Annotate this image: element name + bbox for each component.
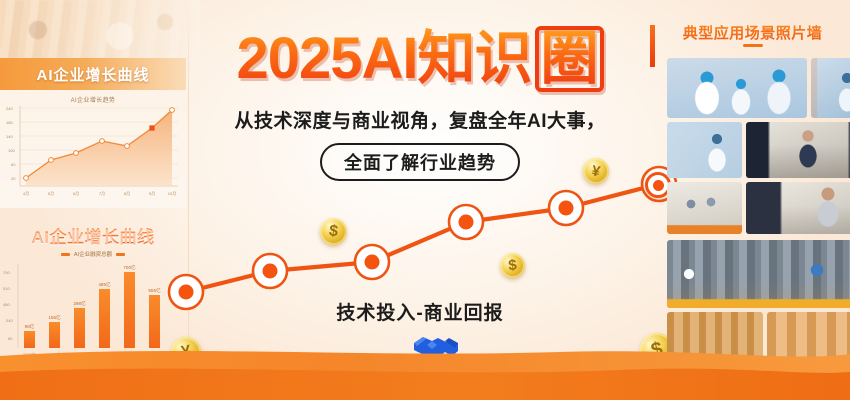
photo-technician-monitor: [667, 122, 742, 178]
svg-text:20: 20: [11, 176, 16, 181]
trend-markers: [169, 167, 676, 309]
chart-caption: 技术投入-商业回报: [300, 298, 540, 325]
card-growth-curve-chart-title: AI企业增长趋势: [0, 95, 186, 104]
photo-engineer-equipment: [811, 58, 850, 118]
photo-wall: 典型应用场景照片墙: [655, 0, 850, 400]
legend-swatch-icon: [61, 253, 70, 256]
legend-swatch-icon: [116, 253, 125, 256]
background-photo-texture: [0, 0, 200, 62]
legend-label: AI企业融资总额: [74, 250, 112, 258]
svg-text:240: 240: [6, 318, 13, 323]
subtitle: 从技术深度与商业视角，复盘全年AI大事，: [175, 106, 665, 133]
photo-office-desk: [746, 122, 850, 178]
card-funding-bars-title: AI企业增长曲线: [32, 223, 155, 248]
bottom-wave: [0, 342, 850, 400]
svg-text:155亿: 155亿: [48, 314, 61, 321]
svg-text:98亿: 98亿: [25, 323, 35, 330]
page-title-boxed-char: 圈: [535, 26, 604, 92]
svg-text:7月: 7月: [99, 191, 105, 196]
coin-symbol: ¥: [590, 162, 601, 180]
photo-wall-title: 典型应用场景照片墙: [655, 22, 850, 43]
svg-text:4月: 4月: [23, 191, 29, 196]
photo-doctors-lab: [667, 58, 807, 118]
page-title: 2025AI知识圈: [175, 26, 665, 92]
svg-text:700亿: 700亿: [123, 264, 136, 271]
svg-text:140: 140: [6, 134, 13, 139]
svg-text:8月: 8月: [124, 191, 130, 196]
svg-text:60: 60: [11, 162, 16, 167]
card-growth-curve-header: AI企业增长曲线: [0, 58, 186, 90]
svg-text:700: 700: [3, 270, 10, 275]
svg-text:100: 100: [8, 148, 15, 153]
svg-text:485亿: 485亿: [98, 281, 111, 288]
svg-text:510: 510: [3, 286, 10, 291]
photo-clean-room: [667, 182, 742, 234]
svg-text:5月: 5月: [48, 191, 54, 196]
coin-symbol: $: [507, 257, 517, 275]
svg-text:240: 240: [6, 106, 13, 111]
svg-text:460: 460: [3, 302, 10, 307]
svg-text:180: 180: [6, 120, 13, 125]
photo-wall-underline: [743, 44, 763, 47]
poster-canvas: AI企业增长曲线 AI企业增长趋势: [0, 0, 850, 400]
svg-text:298亿: 298亿: [73, 300, 86, 307]
photo-factory-line: [667, 240, 850, 308]
coin-symbol: $: [328, 222, 339, 241]
page-title-text: 2025AI知识: [236, 26, 531, 91]
photo-laptop-worker: [746, 182, 850, 234]
card-growth-curve-title: AI企业增长曲线: [36, 64, 149, 85]
svg-text:80: 80: [8, 336, 13, 341]
svg-text:6月: 6月: [73, 191, 79, 196]
